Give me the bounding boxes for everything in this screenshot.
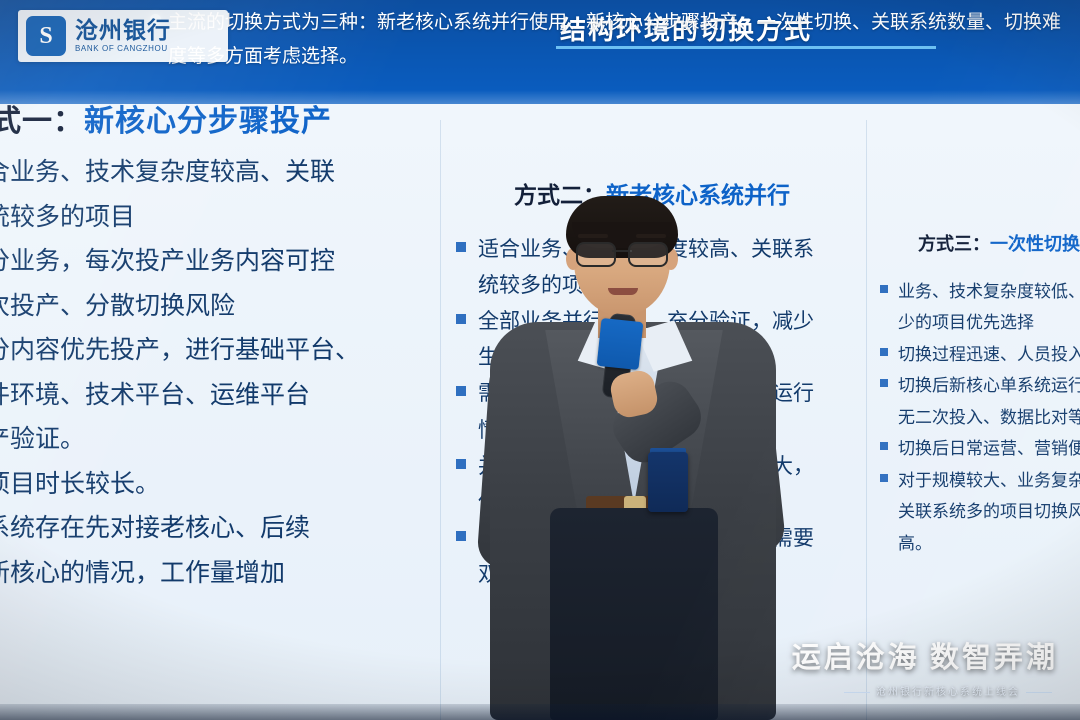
stage-floor — [0, 704, 1080, 720]
bank-name-cn: 沧州银行 — [75, 18, 171, 42]
list-item: 分系统存在先对接老核心、后续 — [0, 506, 430, 551]
column-1-item-5: 硬件环境、技术平台、运维平台 — [0, 373, 430, 418]
slide-banner-paragraph-2: 度等多方面考虑选择。 — [168, 40, 928, 74]
event-subtitle: 沧州银行新核心系统上线会 — [792, 683, 1058, 698]
list-item: 部分内容优先投产，进行基础平台、 — [0, 328, 430, 373]
list-item: 拆分业务，每次投产业务内容可控 — [0, 239, 430, 284]
slide-column-1: 方式一：新核心分步骤投产 适合业务、技术复杂度较高、关联 系统较多的项目 拆分业… — [0, 96, 430, 595]
column-1-value: 新核心分步骤投产 — [84, 105, 332, 138]
column-1-item-4: 部分内容优先投产，进行基础平台、 — [0, 328, 430, 373]
column-3-body: 业务、技术复杂度较低、较少的项目优先选择 切换过程迅速、人员投入少 切换后新核心… — [878, 276, 1080, 559]
glasses-lens-left — [576, 242, 616, 267]
list-item: 适合业务、技术复杂度较高、关联 — [0, 150, 430, 195]
column-1-item-0: 适合业务、技术复杂度较高、关联 — [0, 150, 430, 195]
list-item: 系统较多的项目 — [0, 195, 430, 240]
list-item: 接新核心的情况，工作量增加 — [0, 551, 430, 596]
list-item: 对于规模较大、业务复杂、关联系统多的项目切换风险高。 — [878, 465, 1080, 559]
slide-divider-2 — [866, 120, 867, 720]
bank-name-en: BANK OF CANGZHOU — [75, 45, 171, 53]
column-1-item-9: 接新核心的情况，工作量增加 — [0, 551, 430, 596]
slide-banner-paragraph: 主流的切换方式为三种：新老核心系统并行使用、新核心分步骤投产、一次性切换、关联系… — [168, 6, 1068, 40]
column-3-item-1: 切换过程迅速、人员投入少 — [898, 339, 1080, 370]
event-subtitle-text: 沧州银行新核心系统上线会 — [876, 687, 1020, 698]
column-3-item-4: 对于规模较大、业务复杂、关联系统多的项目切换风险高。 — [898, 465, 1080, 559]
event-logo: 运启沧海 数智弄潮 沧州银行新核心系统上线会 — [792, 634, 1058, 698]
column-1-heading: 方式一：新核心分步骤投产 — [0, 96, 430, 140]
column-1-body: 适合业务、技术复杂度较高、关联 系统较多的项目 拆分业务，每次投产业务内容可控 … — [0, 150, 430, 595]
slide-column-3: 方式三：一次性切换 业务、技术复杂度较低、较少的项目优先选择 切换过程迅速、人员… — [878, 230, 1080, 559]
conference-photo: 结构环境的切换方式 主流的切换方式为三种：新老核心系统并行使用、新核心分步骤投产… — [0, 0, 1080, 720]
list-item: 体项目时长较长。 — [0, 462, 430, 507]
list-item: 多次投产、分散切换风险 — [0, 284, 430, 329]
mouth — [608, 288, 638, 295]
speaker-person — [466, 196, 796, 720]
glasses-icon — [576, 242, 668, 264]
list-item: 切换后日常运营、营销便利 — [878, 433, 1080, 464]
column-1-key: 方式一： — [0, 105, 84, 138]
slide-divider-1 — [440, 120, 441, 720]
column-1-item-7: 体项目时长较长。 — [0, 462, 430, 507]
list-item: 生产验证。 — [0, 417, 430, 462]
glasses-lens-right — [628, 242, 668, 267]
column-3-item-3: 切换后日常运营、营销便利 — [898, 433, 1080, 464]
eyebrow-right — [636, 234, 666, 238]
list-item: 硬件环境、技术平台、运维平台 — [0, 373, 430, 418]
bank-logo-mark: S — [26, 16, 66, 56]
column-3-item-0: 业务、技术复杂度较低、较少的项目优先选择 — [898, 276, 1080, 339]
microphone-flag — [597, 318, 644, 370]
column-3-value: 一次性切换 — [990, 234, 1080, 254]
column-1-item-2: 拆分业务，每次投产业务内容可控 — [0, 239, 430, 284]
column-1-item-1: 系统较多的项目 — [0, 195, 430, 240]
list-item: 业务、技术复杂度较低、较少的项目优先选择 — [878, 276, 1080, 339]
event-title: 运启沧海 数智弄潮 — [792, 634, 1058, 676]
trousers — [550, 508, 718, 720]
eyebrow-left — [578, 234, 608, 238]
column-1-item-8: 分系统存在先对接老核心、后续 — [0, 506, 430, 551]
column-3-heading: 方式三：一次性切换 — [878, 230, 1080, 256]
list-item: 切换过程迅速、人员投入少 — [878, 339, 1080, 370]
bank-logo: S 沧州银行 BANK OF CANGZHOU — [18, 10, 228, 62]
list-item: 切换后新核心单系统运行，无二次投入、数据比对等 — [878, 370, 1080, 433]
name-badge — [648, 452, 688, 512]
rule-right — [1026, 692, 1052, 693]
column-1-item-6: 生产验证。 — [0, 417, 430, 462]
column-1-item-3: 多次投产、分散切换风险 — [0, 284, 430, 329]
column-3-key: 方式三： — [918, 234, 990, 254]
bank-logo-text: 沧州银行 BANK OF CANGZHOU — [75, 18, 171, 54]
column-3-item-2: 切换后新核心单系统运行，无二次投入、数据比对等 — [898, 370, 1080, 433]
rule-left — [844, 692, 870, 693]
